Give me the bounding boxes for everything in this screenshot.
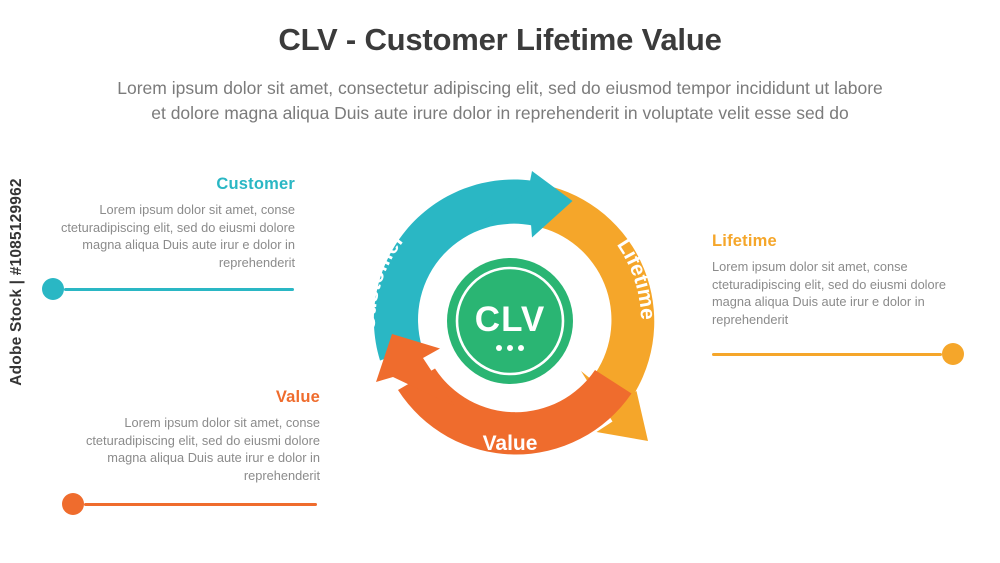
connector-value: [62, 492, 317, 516]
connector-customer: [42, 277, 294, 301]
body-customer: Lorem ipsum dolor sit amet, conse ctetur…: [20, 201, 295, 271]
connector-line-lifetime: [712, 353, 942, 356]
body-lifetime: Lorem ipsum dolor sit amet, conse ctetur…: [712, 258, 982, 328]
hub-label: CLV: [475, 300, 545, 339]
clv-hub: CLV: [447, 258, 573, 384]
subtitle-line-1: Lorem ipsum dolor sit amet, consectetur …: [117, 78, 883, 98]
adobe-stock-watermark: Adobe Stock | #1085129962: [2, 0, 32, 563]
text-block-customer: Customer Lorem ipsum dolor sit amet, con…: [20, 175, 295, 271]
ring-label-value: Value: [483, 432, 538, 455]
heading-value: Value: [45, 388, 320, 407]
text-block-lifetime: Lifetime Lorem ipsum dolor sit amet, con…: [712, 232, 982, 328]
text-block-value: Value Lorem ipsum dolor sit amet, conse …: [45, 388, 320, 484]
connector-dot-customer: [42, 278, 64, 300]
page-subtitle: Lorem ipsum dolor sit amet, consectetur …: [40, 76, 960, 126]
connector-lifetime: [712, 342, 964, 366]
heading-lifetime: Lifetime: [712, 232, 982, 251]
infographic-canvas: Adobe Stock | #1085129962 CLV - Customer…: [0, 0, 1000, 563]
hub-dots-icon: [496, 345, 524, 351]
subtitle-line-2: et dolore magna aliqua Duis aute irure d…: [40, 101, 960, 126]
body-value: Lorem ipsum dolor sit amet, conse ctetur…: [45, 414, 320, 484]
connector-line-value: [84, 503, 317, 506]
page-title: CLV - Customer Lifetime Value: [0, 22, 1000, 58]
connector-line-customer: [64, 288, 294, 291]
connector-dot-lifetime: [942, 343, 964, 365]
connector-dot-value: [62, 493, 84, 515]
clv-cycle-diagram: Customer Lifetime Value CLV: [336, 138, 684, 488]
heading-customer: Customer: [20, 175, 295, 194]
